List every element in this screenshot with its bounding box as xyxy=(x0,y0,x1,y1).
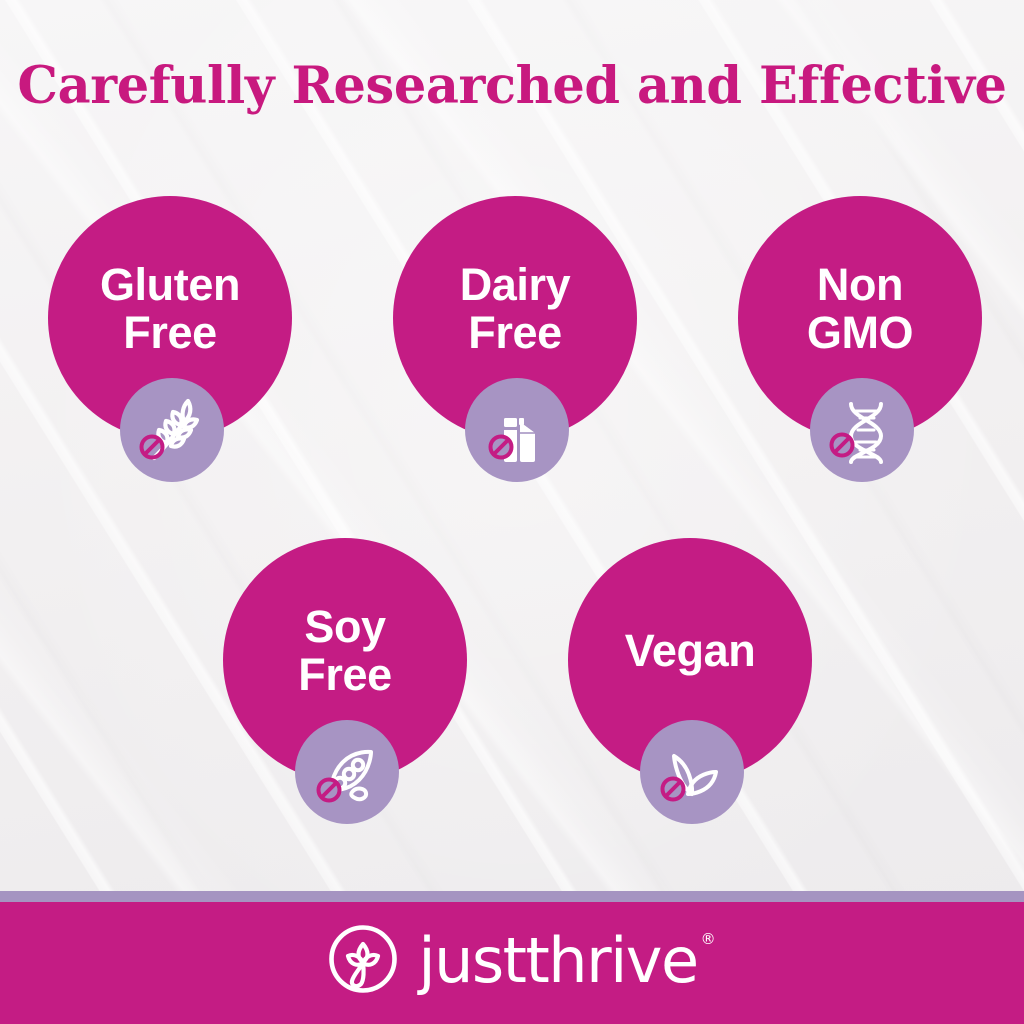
badge-non-gmo[interactable]: Non GMO xyxy=(738,196,982,440)
badge-label-line1: Vegan xyxy=(625,627,756,675)
badge-label-line1: Gluten xyxy=(100,261,240,309)
brand-name: justthrive xyxy=(418,924,697,997)
no-symbol-icon xyxy=(319,780,340,801)
no-symbol-icon xyxy=(491,437,512,458)
no-symbol-icon xyxy=(142,437,163,458)
badge-label-line2: Free xyxy=(123,309,216,357)
badge-label-line2: Free xyxy=(468,309,561,357)
brand-wordmark: justthrive ® xyxy=(418,930,697,992)
milk-carton-icon xyxy=(465,378,569,482)
registered-trademark: ® xyxy=(701,932,716,947)
badge-dairy-free[interactable]: Dairy Free xyxy=(393,196,637,440)
leaf-icon xyxy=(640,720,744,824)
footer-brand-band: justthrive ® xyxy=(0,902,1024,1024)
badge-label-line2: Free xyxy=(298,651,391,699)
background-vignette xyxy=(0,0,1024,1024)
badge-label-line1: Non xyxy=(817,261,903,309)
page-title: Carefully Researched and Effective xyxy=(0,56,1024,116)
brand-logo-lockup[interactable]: justthrive ® xyxy=(326,922,697,1001)
badge-soy-free[interactable]: Soy Free xyxy=(223,538,467,782)
badge-vegan[interactable]: Vegan xyxy=(568,538,812,782)
no-symbol-icon xyxy=(663,779,684,800)
badge-label-line2: GMO xyxy=(807,309,913,357)
dna-helix-icon xyxy=(810,378,914,482)
badge-label-line1: Soy xyxy=(304,603,385,651)
trefoil-circle-logo xyxy=(326,922,400,1001)
no-symbol-icon xyxy=(832,435,853,456)
badge-label-line1: Dairy xyxy=(460,261,571,309)
wheat-icon xyxy=(120,378,224,482)
purple-divider-band xyxy=(0,891,1024,902)
soybean-pod-icon xyxy=(295,720,399,824)
badge-gluten-free[interactable]: Gluten Free xyxy=(48,196,292,440)
promo-graphic: Carefully Researched and Effective Glute… xyxy=(0,0,1024,1024)
